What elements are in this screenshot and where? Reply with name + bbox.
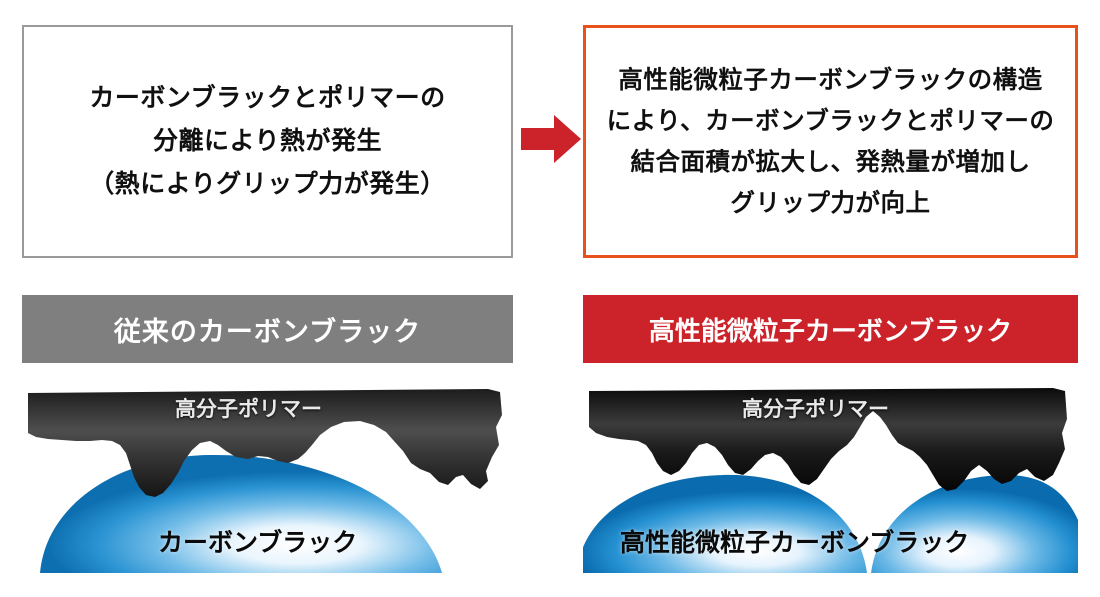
callout-right-line-2: により、カーボンブラックとポリマーの — [607, 101, 1055, 142]
arrow-right-icon — [521, 113, 581, 165]
illustration-highperformance — [583, 385, 1078, 575]
section-label-highperformance-text: 高性能微粒子カーボンブラック — [649, 311, 1012, 348]
callout-left-line-1: カーボンブラックとポリマーの — [89, 77, 445, 120]
section-label-conventional-text: 従来のカーボンブラック — [114, 310, 421, 349]
illustration-conventional — [22, 385, 513, 575]
section-label-conventional: 従来のカーボンブラック — [22, 295, 513, 363]
callout-right-line-1: 高性能微粒子カーボンブラックの構造 — [618, 60, 1042, 101]
callout-left-line-2: 分離により熱が発生 — [153, 120, 382, 163]
section-label-highperformance: 高性能微粒子カーボンブラック — [583, 295, 1078, 363]
diagram-canvas: カーボンブラックとポリマーの 分離により熱が発生 （熱によりグリップ力が発生） … — [0, 0, 1100, 597]
carbon-black-dome — [40, 455, 442, 573]
polymer-layer — [589, 388, 1067, 491]
callout-right-line-3: 結合面積が拡大し、発熱量が増加し — [631, 142, 1031, 183]
callout-right-line-4: グリップ力が向上 — [731, 183, 931, 224]
callout-box-highperformance: 高性能微粒子カーボンブラックの構造 により、カーボンブラックとポリマーの 結合面… — [583, 25, 1078, 258]
carbon-black-dome-right — [871, 475, 1078, 573]
callout-box-conventional: カーボンブラックとポリマーの 分離により熱が発生 （熱によりグリップ力が発生） — [22, 25, 513, 258]
callout-left-line-3: （熱によりグリップ力が発生） — [89, 163, 446, 206]
carbon-black-dome-left — [583, 475, 867, 573]
